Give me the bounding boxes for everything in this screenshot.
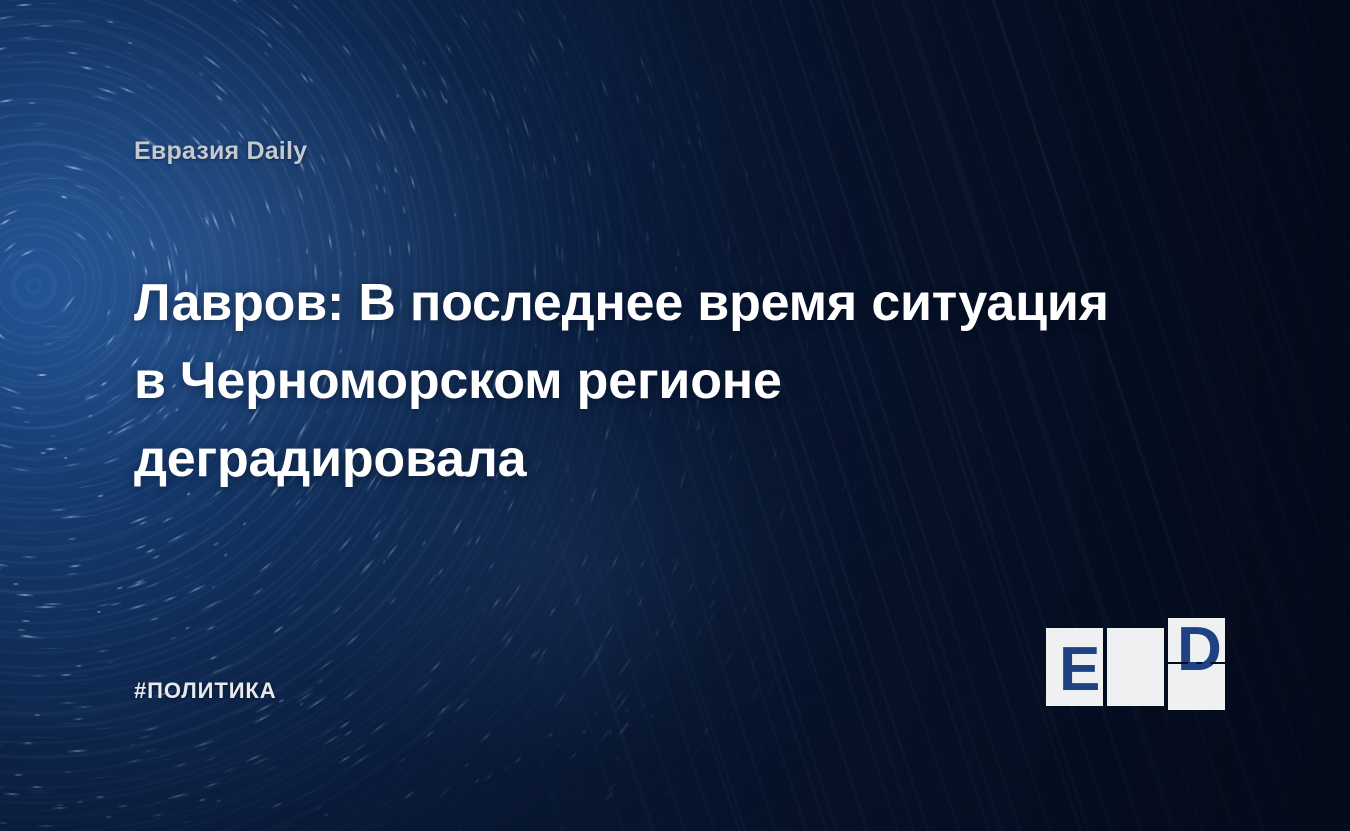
headline-line-3: деградировала [134, 420, 1144, 498]
eadaily-logo[interactable]: E A D D [1046, 626, 1222, 708]
logo-tile-a: A [1107, 628, 1164, 706]
brand-label: Евразия Daily [134, 137, 307, 166]
headline-line-1: Лавров: В последнее время ситуация [134, 264, 1144, 342]
card-content: Евразия Daily Лавров: В последнее время … [0, 0, 1350, 831]
logo-letter-d-top: D [1177, 619, 1222, 662]
logo-tile-d-top-half: D [1168, 618, 1225, 662]
logo-letter-e: E [1059, 639, 1100, 701]
headline: Лавров: В последнее время ситуация в Чер… [134, 264, 1144, 498]
headline-line-2: в Черноморском регионе [134, 342, 1144, 420]
logo-tile-e: E [1046, 628, 1103, 706]
logo-tile-d-bottom-half: D [1168, 664, 1225, 710]
news-share-card: Евразия Daily Лавров: В последнее время … [0, 0, 1350, 831]
logo-letter-d-bottom: D [1177, 664, 1222, 681]
category-tag[interactable]: #ПОЛИТИКА [134, 678, 277, 704]
